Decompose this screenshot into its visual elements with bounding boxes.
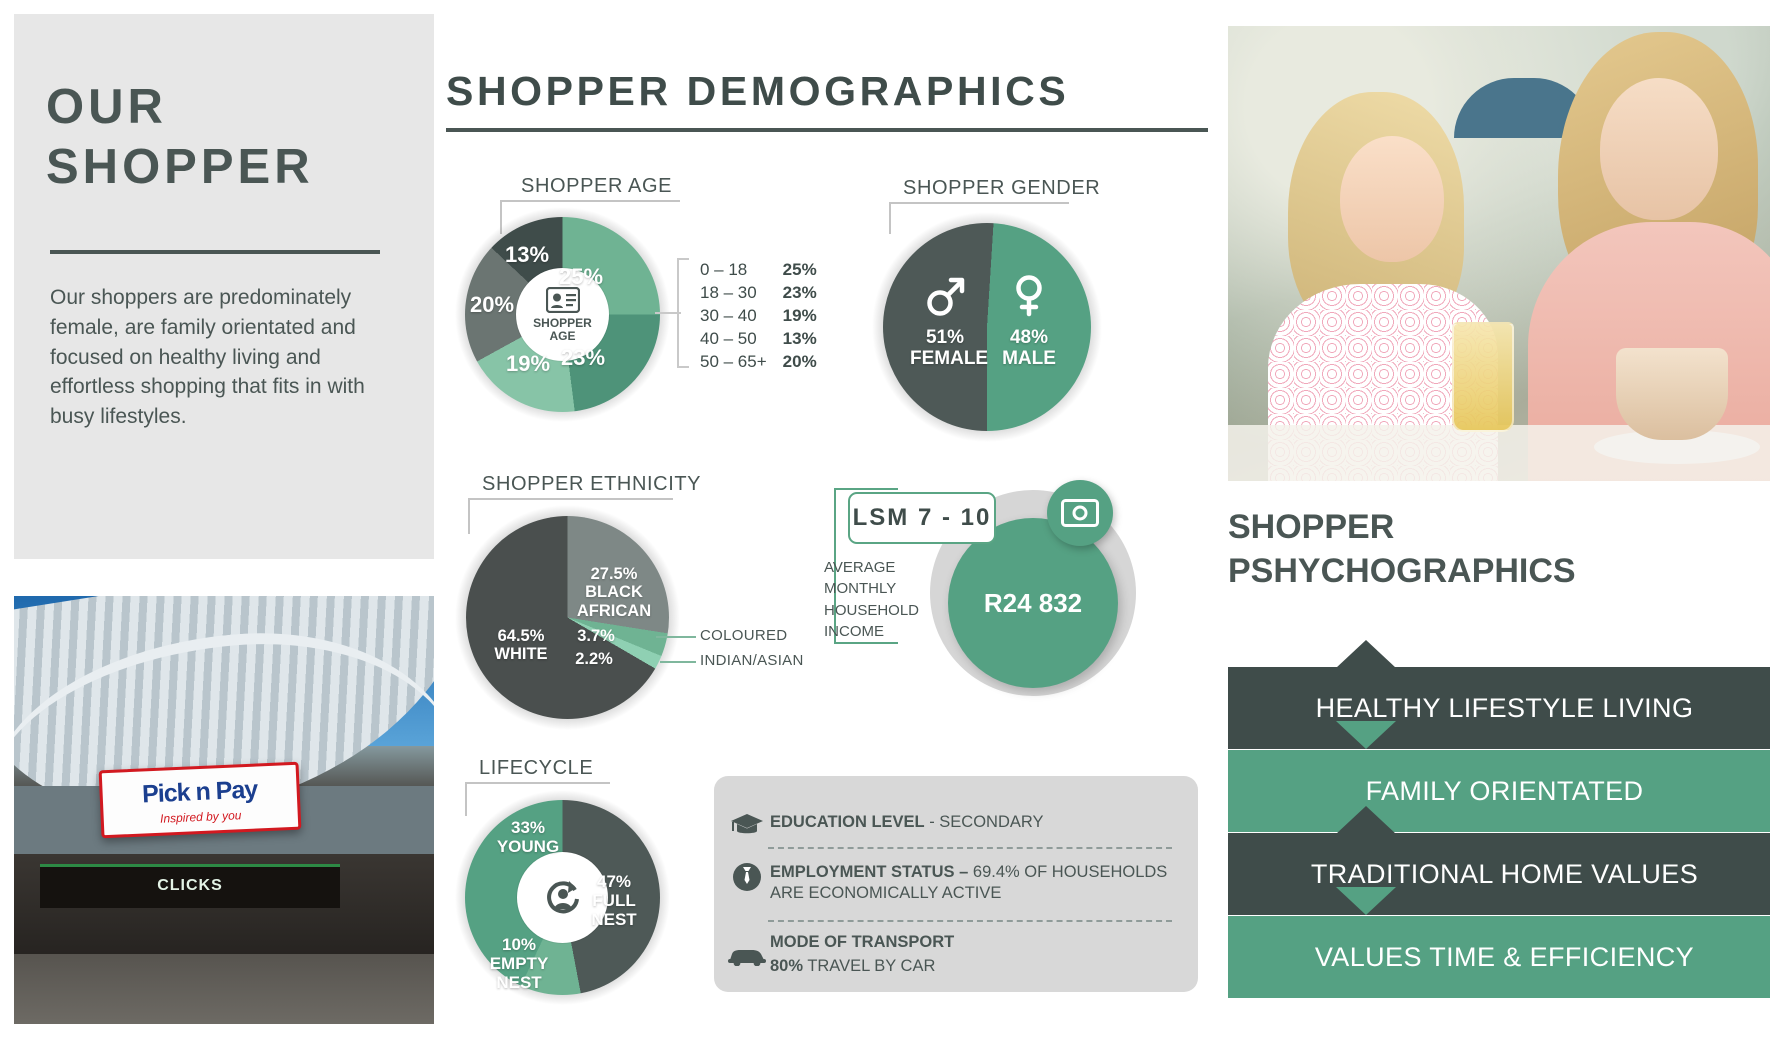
lifecycle-label-full-nest: 47% FULL NEST	[581, 872, 647, 929]
page-title-line2: SHOPPER	[46, 138, 314, 198]
transport-rest: TRAVEL BY CAR	[803, 957, 935, 975]
employment-label: EMPLOYMENT STATUS –	[770, 863, 973, 881]
info-row-transport: MODE OF TRANSPORT 80% TRAVEL BY CAR	[724, 932, 1184, 978]
lsm-badge: LSM 7 - 10	[848, 492, 996, 544]
age-legend: 0 – 18 25% 18 – 30 23% 30 – 40 19% 40 – …	[700, 258, 817, 373]
hero-woman-face	[1600, 78, 1718, 220]
chart-shopper-ethnicity: 27.5% BLACK AFRICAN 64.5% WHITE 3.7% 2.2…	[455, 505, 680, 730]
male-symbol-icon	[925, 274, 965, 318]
age-legend-row: 40 – 50 13%	[700, 327, 817, 350]
lifecycle-label-empty-nest: 10% EMPTY NEST	[478, 935, 560, 992]
title-divider	[50, 250, 380, 254]
gender-slice-female: 51% FEMALE	[910, 274, 980, 370]
age-center-line1: SHOPPER	[533, 317, 592, 330]
age-legend-range-0: 0 – 18	[700, 258, 767, 281]
ethnicity-callout-indian-asian: INDIAN/ASIAN	[700, 652, 804, 669]
age-legend-range-2: 30 – 40	[700, 304, 767, 327]
store-front-photo: Pick n Pay Inspired by you CLICKS	[14, 596, 434, 1024]
transport-pct: 80%	[770, 957, 803, 975]
education-text: EDUCATION LEVEL - SECONDARY	[770, 812, 1044, 833]
lifecycle-empty-name1: EMPTY	[478, 954, 560, 973]
ethnicity-label-indian-pct: 2.2%	[563, 650, 625, 668]
psychographics-heading: SHOPPER PSHYCHOGRAPHICS	[1228, 506, 1576, 593]
age-slice-label-40-50: 20%	[461, 293, 523, 318]
ethnicity-black-name1: BLACK	[568, 583, 660, 601]
gender-slice-male: 48% MALE	[994, 274, 1064, 370]
ethnicity-black-pct: 27.5%	[568, 565, 660, 583]
photo-ground	[14, 954, 434, 1024]
lifecycle-full-name1: FULL	[581, 891, 647, 910]
age-legend-row: 30 – 40 19%	[700, 304, 817, 327]
income-caption: AVERAGE MONTHLY HOUSEHOLD INCOME	[824, 557, 916, 642]
id-card-icon	[546, 287, 580, 313]
info-row-employment: EMPLOYMENT STATUS – 69.4% OF HOUSEHOLDS …	[724, 862, 1184, 905]
psy-notch-2	[1336, 721, 1396, 749]
age-slice-label-50-65: 13%	[496, 243, 558, 268]
shopper-description: Our shoppers are predominately female, a…	[50, 283, 385, 432]
lifecycle-full-pct: 47%	[581, 872, 647, 891]
store-sign: Pick n Pay Inspired by you	[99, 762, 302, 839]
ethnicity-label-black-african: 27.5% BLACK AFRICAN	[568, 565, 660, 620]
indian-callout-line	[660, 661, 696, 663]
ethnicity-label-white: 64.5% WHITE	[475, 627, 567, 664]
age-legend-pct-1: 23%	[767, 281, 817, 304]
transport-label: MODE OF TRANSPORT	[770, 933, 954, 951]
age-slice-label-18-30: 23%	[550, 346, 616, 371]
education-value: - SECONDARY	[925, 813, 1044, 831]
psychographics-heading-line1: SHOPPER	[1228, 506, 1576, 550]
lifecycle-person-icon	[541, 876, 585, 920]
money-note-icon	[1061, 499, 1099, 527]
ethnicity-white-name1: WHITE	[475, 645, 567, 663]
store-sign-brand: Pick n Pay	[102, 774, 297, 811]
ethnicity-white-pct: 64.5%	[475, 627, 567, 645]
chart-shopper-age: SHOPPER AGE 25% 23% 19% 20% 13%	[455, 207, 670, 422]
age-legend-pct-4: 20%	[767, 350, 817, 373]
clicks-store-name: CLICKS	[40, 877, 340, 895]
chart-label-shopper-age: SHOPPER AGE	[521, 175, 672, 198]
main-heading: SHOPPER DEMOGRAPHICS	[446, 68, 1069, 115]
psy-notch-4	[1336, 887, 1396, 915]
lifecycle-young-pct: 33%	[485, 818, 571, 837]
shopper-hero-photo	[1228, 26, 1770, 481]
main-heading-divider	[446, 128, 1208, 132]
lifecycle-young-name: YOUNG	[485, 837, 571, 856]
psychographics-heading-line2: PSHYCHOGRAPHICS	[1228, 550, 1576, 594]
ethnicity-black-name2: AFRICAN	[568, 602, 660, 620]
money-badge	[1047, 480, 1113, 546]
psy-notch-3	[1336, 806, 1396, 834]
education-label: EDUCATION LEVEL	[770, 813, 925, 831]
age-legend-range-3: 40 – 50	[700, 327, 767, 350]
age-legend-pct-3: 13%	[767, 327, 817, 350]
necktie-person-icon	[724, 862, 770, 892]
car-icon	[724, 932, 770, 966]
info-row-education: EDUCATION LEVEL - SECONDARY	[724, 812, 1184, 838]
psy-bar-family-orientated[interactable]: FAMILY ORIENTATED	[1228, 750, 1770, 832]
gender-male-name: MALE	[994, 348, 1064, 369]
age-legend-row: 0 – 18 25%	[700, 258, 817, 281]
gender-female-name: FEMALE	[910, 348, 980, 369]
ethnicity-callout-coloured: COLOURED	[700, 627, 787, 644]
coloured-callout-line	[656, 636, 696, 638]
page-title: OUR SHOPPER	[46, 78, 314, 198]
age-legend-tick	[655, 312, 681, 314]
chart-lifecycle: 33% YOUNG 47% FULL NEST 10% EMPTY NEST	[455, 790, 670, 1005]
ethnicity-label-coloured-pct: 3.7%	[565, 627, 627, 645]
gender-male-pct: 48%	[994, 327, 1064, 348]
female-symbol-icon	[1009, 274, 1049, 318]
psy-bar-values-time-efficiency[interactable]: VALUES TIME & EFFICIENCY	[1228, 916, 1770, 998]
info-divider-2	[768, 920, 1172, 922]
lifecycle-full-name2: NEST	[581, 910, 647, 929]
gender-female-pct: 51%	[910, 327, 980, 348]
age-legend-pct-0: 25%	[767, 258, 817, 281]
age-legend-row: 18 – 30 23%	[700, 281, 817, 304]
graduation-cap-icon	[724, 812, 770, 838]
hero-coffee-cup	[1616, 348, 1728, 440]
hero-juice-glass	[1452, 322, 1514, 432]
info-divider-1	[768, 847, 1172, 849]
psy-bar-healthy-lifestyle[interactable]: HEALTHY LIFESTYLE LIVING	[1228, 667, 1770, 749]
age-slice-label-0-18: 25%	[548, 265, 614, 290]
psy-bar-traditional-home-values[interactable]: TRADITIONAL HOME VALUES	[1228, 833, 1770, 915]
lifecycle-label-young: 33% YOUNG	[485, 818, 571, 856]
hero-child-face	[1340, 136, 1444, 262]
chart-label-shopper-gender: SHOPPER GENDER	[903, 177, 1100, 200]
age-legend-range-1: 18 – 30	[700, 281, 767, 304]
clicks-store-band: CLICKS	[40, 864, 340, 908]
lifecycle-empty-name2: NEST	[478, 973, 560, 992]
age-legend-pct-2: 19%	[767, 304, 817, 327]
age-center-line2: AGE	[533, 330, 592, 343]
chart-label-lifecycle: LIFECYCLE	[479, 757, 593, 780]
age-slice-label-30-40: 19%	[497, 352, 559, 377]
age-legend-row: 50 – 65+ 20%	[700, 350, 817, 373]
transport-text: MODE OF TRANSPORT 80% TRAVEL BY CAR	[770, 932, 954, 978]
chart-shopper-gender: 51% FEMALE 48% MALE	[872, 212, 1102, 442]
page-title-line1: OUR	[46, 78, 314, 138]
lifecycle-empty-pct: 10%	[478, 935, 560, 954]
psy-notch-1	[1336, 640, 1396, 668]
chart-label-shopper-ethnicity: SHOPPER ETHNICITY	[482, 473, 701, 496]
age-legend-range-4: 50 – 65+	[700, 350, 767, 373]
employment-text: EMPLOYMENT STATUS – 69.4% OF HOUSEHOLDS …	[770, 862, 1170, 905]
